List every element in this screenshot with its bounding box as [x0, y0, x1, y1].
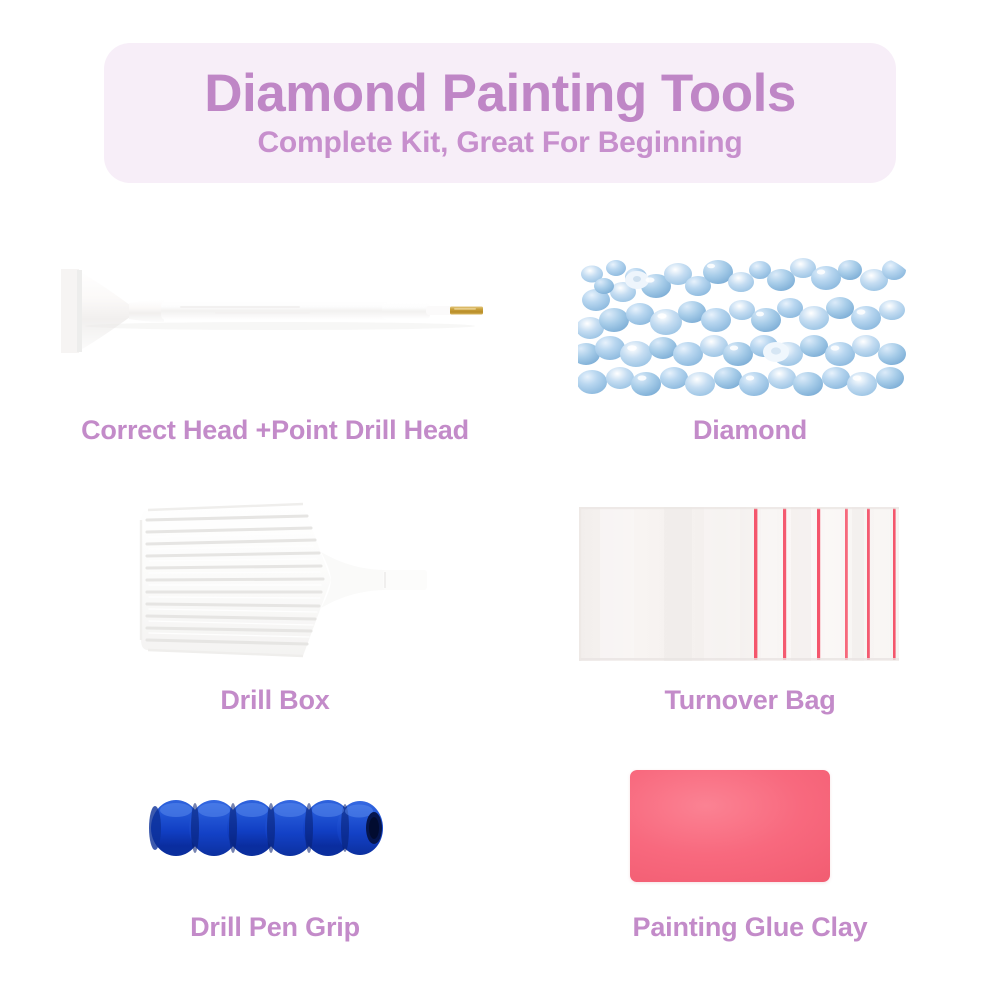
product-label-glue-clay: Painting Glue Clay [520, 912, 980, 943]
foam-grip-icon [148, 788, 383, 868]
product-label-turnover-bag: Turnover Bag [520, 685, 980, 716]
product-label-diamond: Diamond [520, 415, 980, 446]
drill-tray-icon [135, 490, 435, 670]
header-banner: Diamond Painting Tools Complete Kit, Gre… [104, 43, 896, 183]
product-cell-drill-pen-grip: Drill Pen Grip [30, 760, 520, 960]
page-subtitle: Complete Kit, Great For Beginning [257, 126, 742, 160]
drill-pen-icon [30, 225, 520, 410]
product-label-drill-pen-grip: Drill Pen Grip [30, 912, 520, 943]
product-cell-drill-box: Drill Box [30, 490, 520, 735]
page-title: Diamond Painting Tools [204, 66, 796, 122]
product-label-drill-pen: Correct Head +Point Drill Head [30, 415, 520, 446]
product-cell-glue-clay: Painting Glue Clay [520, 760, 980, 960]
glue-clay-icon [630, 770, 830, 882]
diamond-drills-icon [578, 242, 906, 402]
zip-bag-icon [578, 504, 900, 664]
product-cell-diamond: Diamond [520, 225, 980, 465]
product-label-drill-box: Drill Box [30, 685, 520, 716]
product-cell-turnover-bag: Turnover Bag [520, 490, 980, 735]
product-cell-drill-pen: Correct Head +Point Drill Head [30, 225, 520, 465]
